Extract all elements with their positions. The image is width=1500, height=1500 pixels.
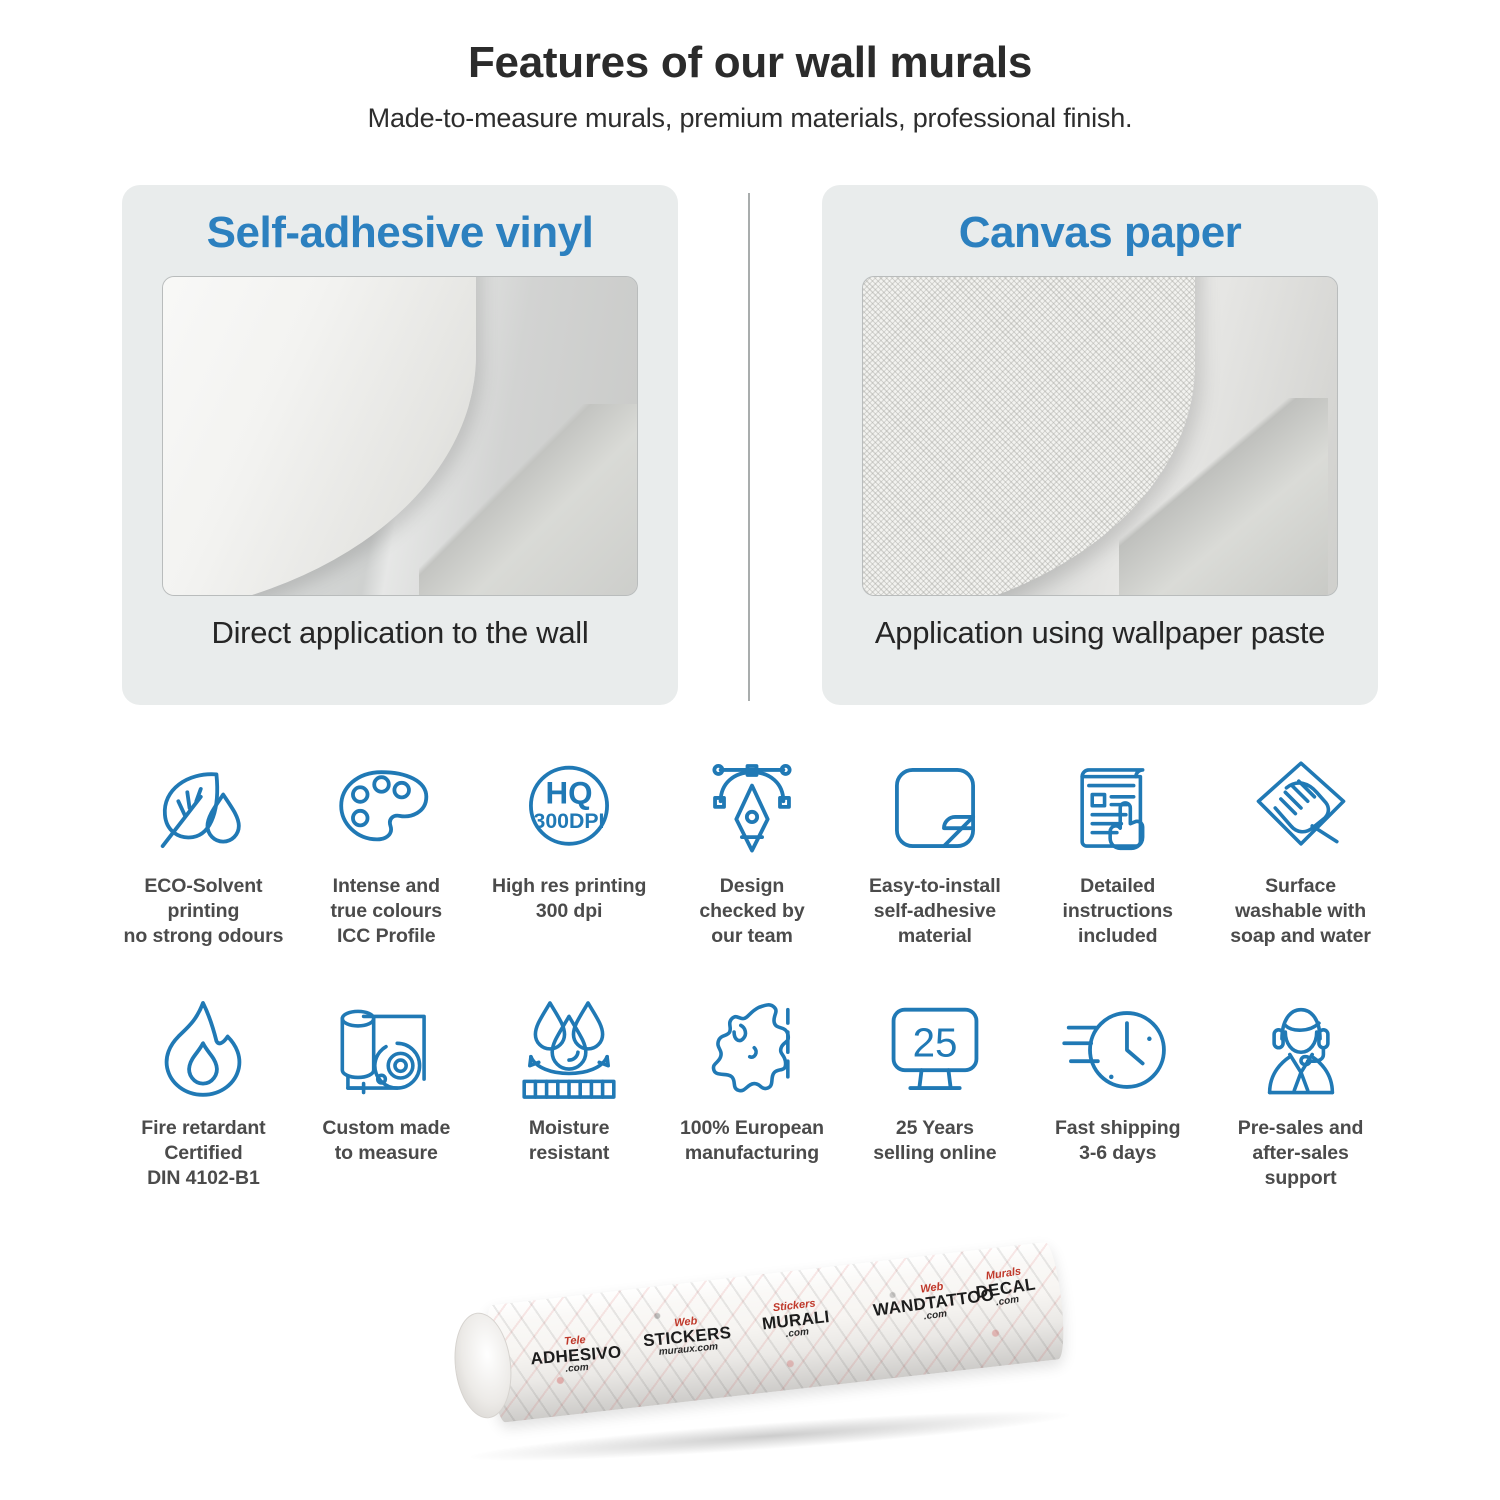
hq-badge-top: HQ [546,776,593,811]
page-title: Features of our wall murals [0,38,1500,89]
europe-map-icon [696,994,808,1106]
vinyl-roll-image [163,277,637,595]
fast-clock-icon [1062,994,1174,1106]
brand-stickers-murali: Stickers MURALI .com [760,1297,832,1342]
feature-fast-shipping: Fast shipping 3-6 days [1026,994,1209,1190]
leaf-droplet-icon [147,752,259,864]
flame-icon [147,994,259,1106]
feature-label: Fire retardant Certified DIN 4102-B1 [141,1116,265,1190]
canvas-roll-image [863,277,1337,595]
material-card-canvas-paper: Canvas paper Application using wallpaper… [822,185,1378,705]
feature-label: Fast shipping 3-6 days [1055,1116,1180,1166]
feature-label: Intense and true colours ICC Profile [331,874,443,948]
pen-tool-icon [696,752,808,864]
monitor-badge-number: 25 [912,1020,957,1066]
feature-label: Moisture resistant [529,1116,609,1166]
feature-label: Pre-sales and after-sales support [1238,1116,1364,1190]
feature-easy-install: Easy-to-install self-adhesive material [843,752,1026,948]
brand-teleadhesivo: Tele ADHESIVO .com [529,1332,623,1377]
feature-label: Easy-to-install self-adhesive material [869,874,1001,948]
feature-surface-washable: Surface washable with soap and water [1209,752,1392,948]
card-caption: Direct application to the wall [160,614,640,652]
card-caption: Application using wallpaper paste [860,614,1340,652]
feature-label: Detailed instructions included [1063,874,1173,948]
feature-label: Custom made to measure [322,1116,450,1166]
roll-tape-measure-icon [330,994,442,1106]
feature-label: High res printing 300 dpi [492,874,646,924]
feature-label: 100% European manufacturing [680,1116,824,1166]
peel-corner-sheet-icon [879,752,991,864]
feature-grid: ECO-Solvent printing no strong odours In… [112,752,1392,1191]
vinyl-roll-photo [162,276,638,596]
hq-300dpi-badge-icon: HQ 300DPI [513,752,625,864]
feature-high-res: HQ 300DPI High res printing 300 dpi [478,752,661,948]
canvas-roll-photo [862,276,1338,596]
canvas-backside [1119,398,1328,595]
feature-25-years: 25 25 Years selling online [843,994,1026,1190]
headset-agent-icon [1245,994,1357,1106]
feature-moisture-resistant: Moisture resistant [478,994,661,1190]
tube-body: Tele ADHESIVO .com Web STICKERS muraux.c… [482,1241,1068,1423]
card-title: Self-adhesive vinyl [122,207,678,260]
water-droplets-surface-icon [513,994,625,1106]
material-card-self-adhesive-vinyl: Self-adhesive vinyl Direct application t… [122,185,678,705]
hand-wiping-cloth-icon [1245,752,1357,864]
feature-label: Design checked by our team [699,874,804,948]
feature-label: Surface washable with soap and water [1230,874,1371,948]
page-subtitle: Made-to-measure murals, premium material… [0,103,1500,134]
wall-murals-features-page: Features of our wall murals Made-to-meas… [0,0,1500,1500]
feature-custom-made: Custom made to measure [295,994,478,1190]
feature-european-manufacturing: 100% European manufacturing [661,994,844,1190]
page-header: Features of our wall murals Made-to-meas… [0,38,1500,134]
card-title: Canvas paper [822,207,1378,260]
monitor-25-icon: 25 [879,994,991,1106]
hq-badge-bottom: 300DPI [534,809,605,833]
feature-detailed-instructions: Detailed instructions included [1026,752,1209,948]
feature-eco-solvent: ECO-Solvent printing no strong odours [112,752,295,948]
feature-label: 25 Years selling online [873,1116,996,1166]
feature-fire-retardant: Fire retardant Certified DIN 4102-B1 [112,994,295,1190]
instructions-hand-icon [1062,752,1174,864]
paint-palette-icon [330,752,442,864]
material-comparison: Self-adhesive vinyl Direct application t… [122,185,1378,705]
card-divider [748,193,750,701]
feature-true-colours: Intense and true colours ICC Profile [295,752,478,948]
feature-label: ECO-Solvent printing no strong odours [124,874,284,948]
feature-support: Pre-sales and after-sales support [1209,994,1392,1190]
feature-design-checked: Design checked by our team [661,752,844,948]
packaging-tube-area: Tele ADHESIVO .com Web STICKERS muraux.c… [0,1255,1500,1500]
